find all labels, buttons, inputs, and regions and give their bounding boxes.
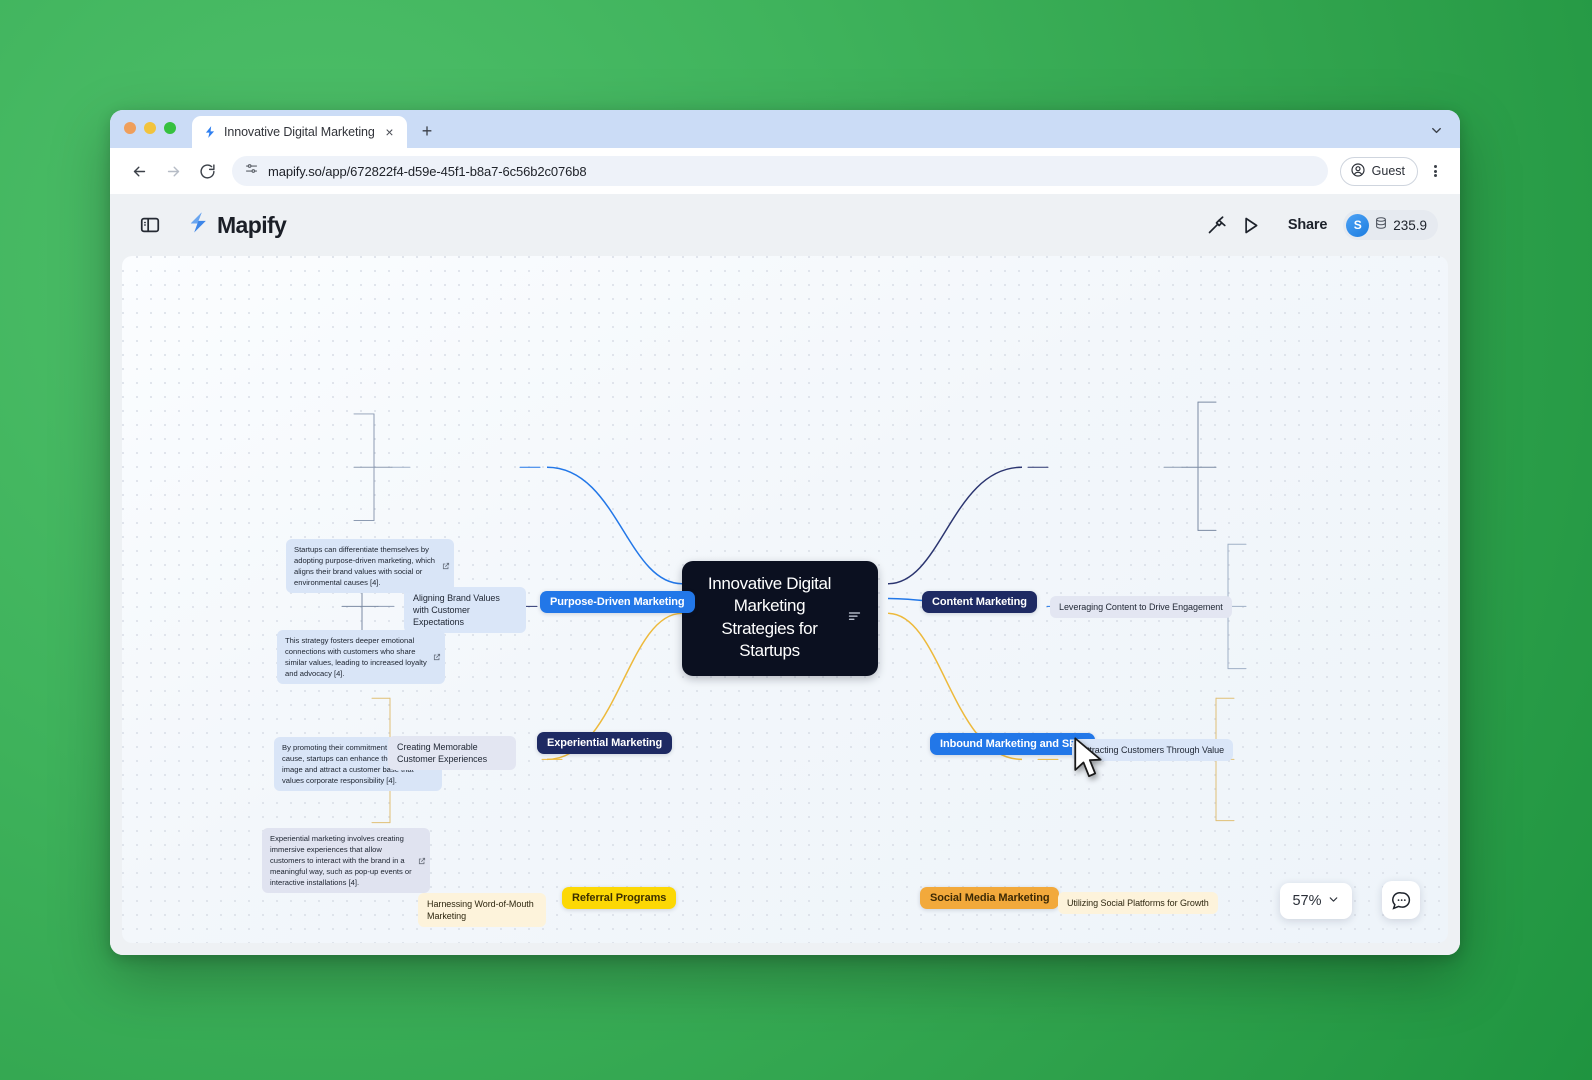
site-settings-icon[interactable] (244, 161, 259, 181)
sub-node-experiential-marketing[interactable]: Creating Memorable Customer Experiences (388, 736, 516, 770)
brand-logo[interactable]: Mapify (185, 210, 286, 240)
external-link-icon[interactable] (418, 857, 426, 865)
leaf-node[interactable]: Startups can differentiate themselves by… (286, 539, 454, 593)
leaf-text: Startups can differentiate themselves by… (294, 545, 435, 587)
zoom-level-value: 57% (1292, 893, 1321, 909)
sub-node-content-marketing[interactable]: Leveraging Content to Drive Engagement (1050, 596, 1232, 618)
mapify-app: Mapify Share S 235.9 (110, 194, 1460, 955)
browser-tab-title: Innovative Digital Marketing S (224, 125, 374, 139)
profile-button[interactable]: Guest (1340, 157, 1418, 186)
note-lines-icon[interactable] (847, 607, 862, 629)
central-node-label: Innovative Digital Marketing Strategies … (700, 573, 839, 663)
sub-node-purpose-driven-marketing[interactable]: Aligning Brand Values with Customer Expe… (404, 587, 526, 633)
leaf-text: Experiential marketing involves creating… (270, 834, 412, 887)
sidebar-toggle-icon[interactable] (136, 211, 164, 239)
account-icon (1350, 162, 1366, 181)
mindmap-nodes: Innovative Digital Marketing Strategies … (122, 256, 1448, 943)
share-button[interactable]: Share (1276, 210, 1339, 240)
address-bar[interactable]: mapify.so/app/672822f4-d59e-45f1-b8a7-6c… (232, 156, 1328, 186)
close-window-button[interactable] (124, 122, 136, 134)
leaf-node[interactable]: Experiential marketing involves creating… (262, 828, 430, 893)
address-bar-url: mapify.so/app/672822f4-d59e-45f1-b8a7-6c… (268, 164, 587, 179)
mapify-bolt-icon (185, 210, 210, 240)
sub-node-inbound-marketing-and-seo[interactable]: Attracting Customers Through Value (1072, 739, 1233, 761)
credits-chip[interactable]: S 235.9 (1343, 210, 1438, 240)
leaf-node[interactable]: This strategy fosters deeper emotional c… (277, 630, 445, 684)
forward-icon[interactable] (158, 156, 188, 186)
browser-tab-strip: Innovative Digital Marketing S × + (110, 110, 1460, 148)
branch-node-experiential-marketing[interactable]: Experiential Marketing (537, 732, 672, 754)
maximize-window-button[interactable] (164, 122, 176, 134)
window-traffic-lights (124, 110, 176, 148)
brand-name: Mapify (217, 212, 286, 239)
branch-node-content-marketing[interactable]: Content Marketing (922, 591, 1037, 613)
bolt-icon (203, 125, 217, 139)
chevron-down-icon[interactable] (1420, 114, 1452, 146)
magic-wand-icon[interactable] (1200, 208, 1234, 242)
external-link-icon[interactable] (442, 562, 450, 570)
browser-window: Innovative Digital Marketing S × + mapif… (110, 110, 1460, 955)
browser-menu-icon[interactable] (1422, 156, 1448, 186)
sub-node-social-media-marketing[interactable]: Utilizing Social Platforms for Growth (1058, 892, 1218, 914)
app-header: Mapify Share S 235.9 (110, 194, 1460, 256)
reload-icon[interactable] (192, 156, 222, 186)
profile-label: Guest (1372, 164, 1405, 178)
browser-toolbar: mapify.so/app/672822f4-d59e-45f1-b8a7-6c… (110, 148, 1460, 194)
chat-button[interactable] (1382, 881, 1420, 919)
minimize-window-button[interactable] (144, 122, 156, 134)
browser-tab-active[interactable]: Innovative Digital Marketing S × (192, 116, 407, 148)
mindmap-canvas[interactable]: Innovative Digital Marketing Strategies … (122, 256, 1448, 943)
branch-node-social-media-marketing[interactable]: Social Media Marketing (920, 887, 1059, 909)
branch-node-referral-programs[interactable]: Referral Programs (562, 887, 676, 909)
back-icon[interactable] (124, 156, 154, 186)
close-icon[interactable]: × (381, 124, 398, 141)
chevron-down-icon (1327, 893, 1340, 910)
present-play-icon[interactable] (1234, 208, 1268, 242)
central-node[interactable]: Innovative Digital Marketing Strategies … (682, 561, 878, 676)
leaf-text: This strategy fosters deeper emotional c… (285, 636, 427, 678)
branch-node-inbound-marketing-and-seo[interactable]: Inbound Marketing and SEO (930, 733, 1095, 755)
external-link-icon[interactable] (433, 653, 441, 661)
branch-node-purpose-driven-marketing[interactable]: Purpose-Driven Marketing (540, 591, 695, 613)
new-tab-button[interactable]: + (413, 115, 441, 147)
sub-node-referral-programs[interactable]: Harnessing Word-of-Mouth Marketing (418, 893, 546, 927)
database-icon (1374, 216, 1388, 235)
credit-coin-icon: S (1346, 214, 1369, 237)
credits-value: 235.9 (1393, 218, 1427, 233)
zoom-level-control[interactable]: 57% (1280, 883, 1352, 919)
